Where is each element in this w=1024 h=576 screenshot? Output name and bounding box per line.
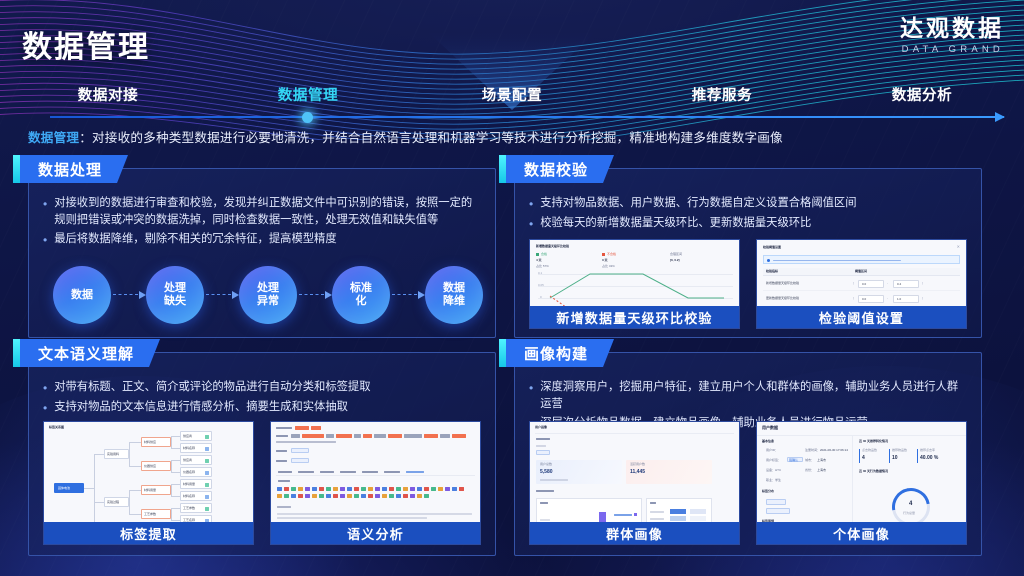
panel-accent-bar	[499, 155, 506, 183]
thumbnail-caption: 群体画像	[530, 522, 739, 544]
tree-node-label: 仪器供应	[144, 465, 156, 468]
tree-line	[171, 508, 172, 520]
tree-line	[171, 484, 172, 496]
tree-node-level2[interactable]: 仪器供应	[141, 461, 171, 471]
thumbnail-daily-ratio-check[interactable]: 新增数据量天级环比校验 合格 4 天 占比 57% 不合格 3 天 占比 43%…	[529, 239, 740, 329]
row-metric-label: 新增数据量天级环比校验	[766, 282, 799, 285]
threshold-min-input-1[interactable]: 0.0	[858, 280, 884, 288]
bullet-list-data-validation: • 支持对物品数据、用户数据、行为数据自定义设置合格阈值区间 • 校验每天的新增…	[529, 195, 969, 235]
legend-swatch-fail	[602, 253, 605, 256]
leaf-badge-icon	[205, 435, 209, 439]
tree-line	[171, 436, 172, 448]
donut-value: 4	[909, 501, 912, 507]
token-row	[277, 487, 474, 492]
field-label: 用户标签：	[766, 459, 781, 462]
tree-node-leaf[interactable]: 供应商	[180, 431, 212, 441]
tree-node-label: 材料名称	[183, 495, 195, 498]
mini-bar-chart-card	[536, 498, 642, 522]
row-metric-label: 更新数据量天级环比校验	[766, 297, 799, 300]
subtitle-keyword: 数据管理	[28, 131, 79, 145]
tree-line	[171, 472, 180, 473]
tree-line	[171, 520, 180, 521]
panel-data-validation: 数据校验 • 支持对物品数据、用户数据、行为数据自定义设置合格阈值区间 • 校验…	[514, 168, 982, 338]
panel-title-profile-construction: 画像构建	[506, 339, 614, 367]
subtitle-separator: ：	[79, 131, 92, 145]
tree-node-label: 材料名称	[183, 447, 195, 450]
tree-node-leaf[interactable]: 仪器名称	[180, 467, 212, 477]
leaf-badge-icon	[205, 471, 209, 475]
stat-label: 推荐点击率	[920, 449, 935, 452]
field-label: 职业：学生	[766, 479, 781, 482]
panel-title-data-validation: 数据校验	[506, 155, 614, 183]
thumbnail-tag-extraction[interactable]: 标签关系图	[43, 421, 254, 545]
mini-line-chart	[548, 270, 728, 306]
table-row: 新增数据量天级环比校验 [ 0.0 - 0.4 ]	[763, 278, 960, 291]
tree-line	[94, 454, 104, 455]
field-label: 省份：	[805, 469, 814, 472]
threshold-max-input-2[interactable]: 1.0	[893, 295, 919, 303]
tree-line	[129, 466, 141, 467]
flow-arrow-icon	[390, 290, 425, 300]
stat-value: 4	[862, 456, 865, 461]
tree-line	[84, 488, 94, 489]
section-title-30d-conversion: 近 30 天推荐转化情况	[859, 440, 888, 443]
tree-node-root[interactable]: 固体电池	[54, 483, 84, 493]
section-title-extra: 标签明细	[762, 520, 774, 522]
column-header-metric: 校验指标	[766, 270, 778, 273]
stat-label: 点击物品数	[862, 449, 877, 452]
metric-value: 11,445	[630, 470, 645, 475]
section-title-basic-info: 基本信息	[762, 440, 774, 443]
flow-node-label: 数据降维	[443, 282, 465, 308]
flow-node-standardize: 标准化	[332, 266, 390, 324]
nav-item-data-docking[interactable]: 数据对接	[78, 84, 138, 105]
nav-item-scene-config[interactable]: 场景配置	[482, 84, 542, 105]
table-row: 更新数据量天级环比校验 [ 0.0 - 1.0 ]	[763, 293, 960, 306]
legend-label-fail: 不合格	[607, 253, 616, 256]
tree-line	[171, 508, 180, 509]
thumbnail-caption: 语义分析	[271, 522, 480, 544]
tree-node-leaf[interactable]: 工艺参数	[180, 503, 212, 513]
bracket-close: ]	[922, 297, 923, 300]
tree-node-level2[interactable]: 材料用量	[141, 485, 171, 495]
mini-tab-strip	[276, 469, 475, 476]
flow-node-label: 数据	[71, 289, 93, 302]
leaf-badge-icon	[205, 447, 209, 451]
bullet-text: 对带有标题、正文、简介或评论的物品进行自动分类和标签提取	[54, 379, 370, 397]
donut-label: 行为总量	[903, 512, 915, 515]
page-subtitle: 数据管理：对接收的多种类型数据进行必要地清洗，并结合自然语言处理和机器学习等技术…	[28, 130, 996, 148]
tree-line	[94, 502, 104, 503]
metric-value: 5,580	[540, 470, 553, 475]
bullet-item: • 对带有标题、正文、简介或评论的物品进行自动分类和标签提取	[43, 379, 483, 397]
close-icon[interactable]: ✕	[957, 245, 960, 249]
panel-title-data-processing: 数据处理	[20, 155, 128, 183]
tree-node-label: 工艺参数	[183, 507, 195, 510]
bullet-dot-icon: •	[529, 195, 533, 213]
tree-node-leaf[interactable]: 材料用量	[180, 479, 212, 489]
bullet-dot-icon: •	[529, 215, 533, 233]
panel-accent-bar	[13, 339, 20, 367]
tree-node-level2[interactable]: 材料供应	[141, 437, 171, 447]
tree-node-leaf[interactable]: 材料名称	[180, 491, 212, 501]
mini-filter-tag[interactable]	[536, 450, 550, 455]
bullet-item: • 支持对物品数据、用户数据、行为数据自定义设置合格阈值区间	[529, 195, 969, 213]
threshold-max-input-1[interactable]: 0.4	[893, 280, 919, 288]
table-header-row: 校验指标 阈值区间	[763, 268, 960, 276]
info-icon	[767, 259, 770, 262]
tree-node-label: 工艺参数	[144, 513, 156, 516]
field-value-province: 上海市	[817, 469, 826, 472]
column-header-range: 阈值区间	[855, 270, 867, 273]
metric-card-active-users: 活跃用户数 11,445	[626, 460, 712, 484]
flow-node-handle-anomaly: 处理异常	[239, 266, 297, 324]
panel-accent-bar	[13, 155, 20, 183]
bullet-item: • 校验每天的新增数据量天级环比、更新数据量天级环比	[529, 215, 969, 233]
field-label: 城市：	[805, 459, 814, 462]
panel-accent-bar	[499, 339, 506, 367]
tree-line	[129, 514, 141, 515]
field-value-city: 上海市	[817, 459, 826, 462]
thumbnail-row-validation: 新增数据量天级环比校验 合格 4 天 占比 57% 不合格 3 天 占比 43%…	[529, 239, 967, 329]
thumbnail-row-text-semantic: 标签关系图	[43, 421, 481, 545]
legend-percent-fail: 占比 43%	[602, 265, 615, 268]
panel-profile-construction: 画像构建 • 深度洞察用户，挖掘用户特征，建立用户个人和群体的画像，辅助业务人员…	[514, 352, 982, 556]
stat-value: 40.00 %	[920, 456, 938, 461]
timeline-active-dot	[302, 112, 313, 123]
tree-line	[129, 490, 130, 514]
thumbnail-image-threshold-settings: 校验阈值设置 ✕ 校验指标 阈值区间 新增数据量天级环比校验 [ 0.0	[757, 240, 966, 306]
input-value: 1.0	[897, 298, 901, 301]
stat-accent-bar	[859, 449, 860, 463]
legend-swatch-pass	[536, 253, 539, 256]
input-value: 0.0	[862, 298, 866, 301]
thumbnail-caption: 个体画像	[757, 522, 966, 544]
flow-node-label: 处理缺失	[164, 282, 186, 308]
tree-line	[171, 496, 180, 497]
mini-table-row	[650, 516, 710, 521]
bullet-dot-icon: •	[43, 379, 47, 397]
flow-node-data: 数据	[53, 266, 111, 324]
input-value: 0.4	[897, 283, 901, 286]
bracket-open: [	[853, 282, 854, 285]
panel-header-profile-construction: 画像构建	[499, 339, 614, 367]
tree-node-label: 仪器名称	[183, 471, 195, 474]
mini-chart-title: 新增数据量天级环比校验	[536, 245, 569, 248]
nav-item-data-analysis[interactable]: 数据分析	[892, 84, 952, 105]
tree-node-label: 固体电池	[58, 487, 70, 490]
tree-node-leaf[interactable]: 供应商	[180, 455, 212, 465]
thumbnail-image-group-profile: 用户画像 用户总数 5,580 活跃用户数 11,445	[530, 422, 739, 522]
tree-line	[171, 460, 180, 461]
flow-node-label: 处理异常	[257, 282, 279, 308]
panel-header-data-validation: 数据校验	[499, 155, 614, 183]
subtitle-text: 对接收的多种类型数据进行必要地清洗，并结合自然语言处理和机器学习等技术进行分析挖…	[92, 131, 783, 145]
mini-tag	[291, 458, 309, 463]
timeline-arrow-icon	[995, 112, 1005, 122]
page-title: 数据管理	[22, 22, 150, 66]
data-processing-flow-diagram: 数据 处理缺失 处理异常 标准化 数据降维	[53, 261, 483, 329]
flow-arrow-icon	[297, 290, 332, 300]
metric-label: 活跃用户数	[630, 463, 645, 466]
tree-line	[171, 448, 180, 449]
thumbnail-semantic-analysis[interactable]: 语义分析	[270, 421, 481, 545]
bar-column	[599, 512, 606, 522]
dialog-title: 校验阈值设置	[763, 246, 781, 249]
bullet-item: • 支持对物品的文本信息进行情感分析、摘要生成和实体抽取	[43, 399, 483, 417]
timeline-axis	[50, 116, 1004, 118]
legend-label-pass: 合格	[541, 253, 547, 256]
nav-item-recommend-service[interactable]: 推荐服务	[692, 84, 752, 105]
legend-value-range: [0, 0.2]	[670, 259, 680, 262]
bullet-list-text-semantic: • 对带有标题、正文、简介或评论的物品进行自动分类和标签提取 • 支持对物品的文…	[43, 379, 483, 419]
legend-label-range: 合理区间	[670, 253, 682, 256]
tree-node-label: 供应商	[183, 459, 192, 462]
stat-accent-bar	[889, 449, 890, 463]
tree-line	[171, 460, 172, 472]
tag-chip	[766, 508, 790, 514]
thumbnail-image-tag-extraction: 标签关系图	[44, 422, 253, 522]
panel-text-semantic-understanding: 文本语义理解 • 对带有标题、正文、简介或评论的物品进行自动分类和标签提取 • …	[28, 352, 496, 556]
thumbnail-caption: 检验阈值设置	[757, 306, 966, 328]
panel-header-text-semantic: 文本语义理解	[13, 339, 160, 367]
token-row	[277, 494, 474, 499]
panel-title-text-semantic: 文本语义理解	[20, 339, 160, 367]
bullet-item: • 对接收到的数据进行审查和校验，发现并纠正数据文件中可识别的错误，按照一定的规…	[43, 195, 483, 229]
dialog-info-banner	[763, 255, 960, 264]
bullet-text: 最后将数据降维，剔除不相关的冗余特征，提高模型精度	[54, 231, 336, 249]
legend-percent-pass: 占比 57%	[536, 265, 549, 268]
tree-node-level1[interactable]: 实验用料	[104, 449, 129, 459]
tree-node-label: 材料供应	[144, 441, 156, 444]
section-title-30d-behavior: 近 30 天行为数据情况	[859, 470, 888, 473]
flow-arrow-icon	[204, 290, 239, 300]
section-title-tag-distribution: 标签分布	[762, 490, 774, 493]
nav-item-data-management[interactable]: 数据管理	[278, 84, 338, 105]
tree-node-level1[interactable]: 实验过程	[104, 497, 129, 507]
tree-node-label: 工艺名称	[183, 519, 195, 522]
thumbnail-caption: 新增数据量天级环比校验	[530, 306, 739, 328]
input-value: 0.0	[862, 283, 866, 286]
tree-line	[171, 436, 180, 437]
bracket-close: ]	[922, 282, 923, 285]
thumbnail-caption: 标签提取	[44, 522, 253, 544]
leaf-badge-icon	[205, 459, 209, 463]
bullet-dot-icon: •	[43, 195, 47, 229]
legend-value-pass: 4 天	[536, 259, 542, 262]
flow-node-label: 标准化	[350, 282, 372, 308]
tree-node-leaf[interactable]: 工艺名称	[180, 515, 212, 522]
bullet-text: 支持对物品的文本信息进行情感分析、摘要生成和实体抽取	[54, 399, 348, 417]
stat-accent-bar	[917, 449, 918, 463]
brand-name-en: DATA GRAND	[900, 44, 1004, 55]
brand-logo: 达观数据 DATA GRAND	[900, 16, 1004, 55]
leaf-badge-icon	[205, 507, 209, 511]
mini-panel-title: 用户画像	[535, 426, 547, 429]
brand-name-cn: 达观数据	[900, 16, 1004, 41]
metric-label: 用户总数	[540, 463, 552, 466]
bullet-text: 校验每天的新增数据量天级环比、更新数据量天级环比	[540, 215, 811, 233]
bullet-dot-icon: •	[43, 399, 47, 417]
tree-node-label: 供应商	[183, 435, 192, 438]
field-label: 设备：HTC	[766, 469, 781, 472]
thumbnail-individual-profile[interactable]: 用户数据 基本信息 用户ID： 用户标签： 强确认 设备：HTC 职业：学生 注…	[756, 421, 967, 545]
legend-value-fail: 3 天	[602, 259, 608, 262]
tree-line	[171, 484, 180, 485]
bullet-dot-icon: •	[43, 231, 47, 249]
tree-node-level2[interactable]: 工艺参数	[141, 509, 171, 519]
thumbnail-image-daily-ratio-check: 新增数据量天级环比校验 合格 4 天 占比 57% 不合格 3 天 占比 43%…	[530, 240, 739, 306]
banner-text	[773, 260, 901, 262]
tree-line	[129, 442, 130, 466]
tag-chip	[766, 499, 786, 505]
mini-panel-title: 用户数据	[762, 426, 778, 430]
tree-node-label: 实验用料	[107, 453, 119, 456]
field-value-register-time: 2021-06-30 17:06:14	[820, 449, 848, 452]
range-dash: -	[887, 282, 888, 285]
thumbnail-threshold-settings[interactable]: 校验阈值设置 ✕ 校验指标 阈值区间 新增数据量天级环比校验 [ 0.0	[756, 239, 967, 329]
tree-line	[129, 442, 141, 443]
stat-label: 推荐物品数	[892, 449, 907, 452]
tree-node-label: 材料用量	[144, 489, 156, 492]
bullet-text: 支持对物品数据、用户数据、行为数据自定义设置合格阈值区间	[540, 195, 856, 213]
threshold-min-input-2[interactable]: 0.0	[858, 295, 884, 303]
bullet-item: • 最后将数据降维，剔除不相关的冗余特征，提高模型精度	[43, 231, 483, 249]
stat-value: 10	[892, 456, 898, 461]
leaf-badge-icon	[205, 495, 209, 499]
field-label: 注册时间：	[805, 449, 820, 452]
field-label: 用户ID：	[766, 449, 778, 452]
thumbnail-group-profile[interactable]: 用户画像 用户总数 5,580 活跃用户数 11,445	[529, 421, 740, 545]
leaf-badge-icon	[205, 483, 209, 487]
tree-line	[129, 490, 141, 491]
panel-header-data-processing: 数据处理	[13, 155, 128, 183]
stage-nav: 数据对接 数据管理 场景配置 推荐服务 数据分析	[0, 76, 1024, 124]
tree-line	[94, 454, 95, 522]
panel-data-processing: 数据处理 • 对接收到的数据进行审查和校验，发现并纠正数据文件中可识别的错误，按…	[28, 168, 496, 338]
flow-node-dimension-reduction: 数据降维	[425, 266, 483, 324]
range-dash: -	[887, 297, 888, 300]
user-tag-chip: 强确认	[787, 457, 803, 462]
tree-node-label: 材料用量	[183, 483, 195, 486]
bullet-dot-icon: •	[529, 379, 533, 413]
mini-table-card	[646, 498, 712, 522]
mini-panel-title: 标签关系图	[49, 426, 64, 429]
flow-node-handle-missing: 处理缺失	[146, 266, 204, 324]
tree-node-label: 实验过程	[107, 501, 119, 504]
tree-node-leaf[interactable]: 材料名称	[180, 443, 212, 453]
thumbnail-row-profile: 用户画像 用户总数 5,580 活跃用户数 11,445	[529, 421, 967, 545]
bullet-list-data-processing: • 对接收到的数据进行审查和校验，发现并纠正数据文件中可识别的错误，按照一定的规…	[43, 195, 483, 251]
bullet-item: • 深度洞察用户，挖掘用户特征，建立用户个人和群体的画像，辅助业务人员进行人群运…	[529, 379, 969, 413]
leaf-badge-icon	[205, 519, 209, 522]
bullet-text: 对接收到的数据进行审查和校验，发现并纠正数据文件中可识别的错误，按照一定的规则把…	[54, 195, 483, 229]
thumbnail-image-semantic-analysis	[271, 422, 480, 522]
metric-card-total-users: 用户总数 5,580	[536, 460, 622, 484]
mini-table-row	[650, 509, 710, 514]
mini-tag	[291, 448, 309, 453]
flow-arrow-icon	[111, 290, 146, 300]
user-tag-label: 强确认	[789, 459, 798, 462]
bracket-open: [	[853, 297, 854, 300]
thumbnail-image-individual-profile: 用户数据 基本信息 用户ID： 用户标签： 强确认 设备：HTC 职业：学生 注…	[757, 422, 966, 522]
bullet-text: 深度洞察用户，挖掘用户特征，建立用户个人和群体的画像，辅助业务人员进行人群运营	[540, 379, 969, 413]
